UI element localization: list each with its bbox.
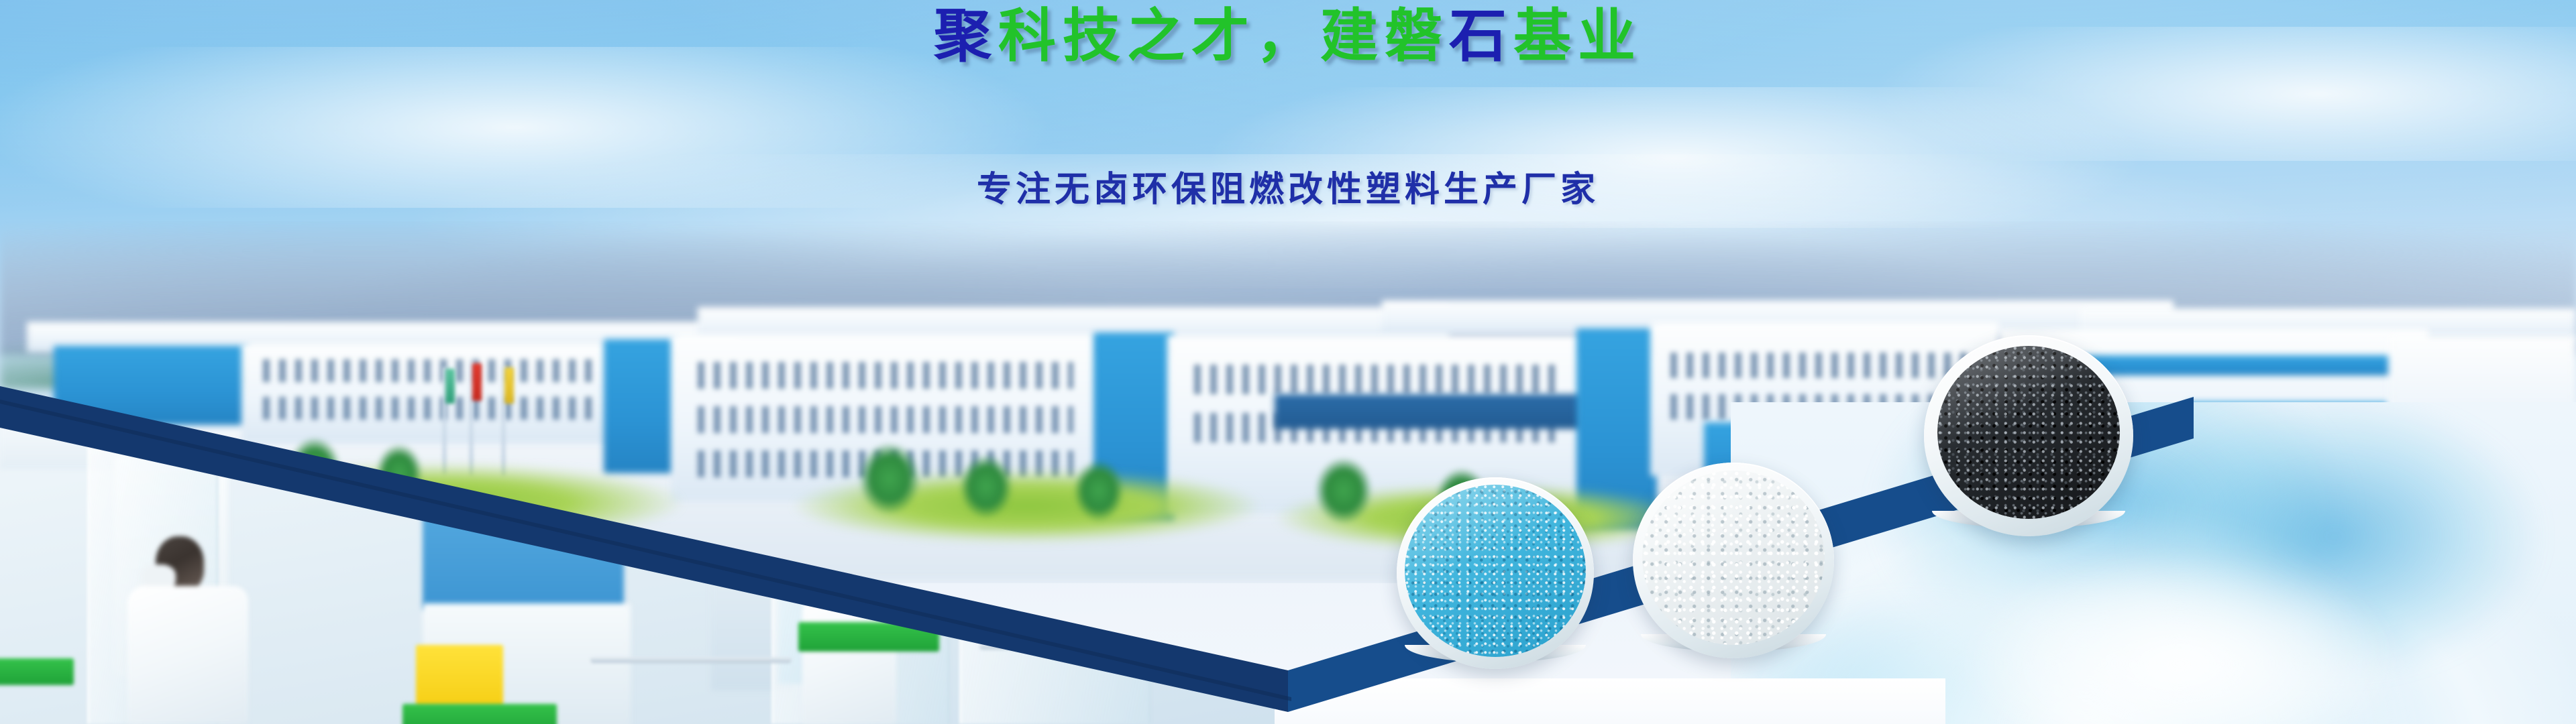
dish-contents — [1937, 346, 2120, 519]
tree — [1315, 457, 1373, 524]
safety-sign — [798, 622, 939, 652]
dish-contents — [1642, 471, 1825, 645]
white-pellets — [1642, 471, 1825, 645]
black-pellet-dish — [1924, 335, 2133, 536]
white-pellet-dish — [1633, 463, 1834, 658]
lab-coat — [802, 595, 896, 724]
safety-sign — [0, 658, 74, 685]
building-windows — [1194, 365, 1556, 394]
factory-building — [241, 343, 617, 444]
black-pellets — [1937, 346, 2120, 519]
banner-stage: 聚科技之才，建磐石基业 专注无卤环保阻燃改性塑料生产厂家 — [0, 0, 2576, 724]
flag — [445, 369, 455, 404]
subtitle: 专注无卤环保阻燃改性塑料生产厂家 — [0, 173, 2576, 208]
factory-building — [604, 339, 678, 473]
blue-pellet-dish — [1397, 477, 1594, 669]
handrail — [590, 657, 792, 663]
warning-sign — [416, 645, 503, 707]
headline-seg-3: 建磐 — [1320, 4, 1449, 68]
factory-building — [54, 346, 248, 425]
headline-seg-5: 基业 — [1513, 4, 1642, 68]
lab-worker — [121, 536, 268, 724]
tree — [1073, 460, 1124, 522]
building-windows — [263, 397, 598, 420]
building-windows — [263, 359, 598, 382]
building-windows — [698, 406, 1073, 433]
tree — [859, 442, 920, 515]
building-windows — [698, 362, 1073, 389]
white-foreground-sheet — [1275, 678, 1945, 724]
tree — [959, 455, 1013, 519]
blue-pellets — [1405, 485, 1586, 657]
headline-comma: ， — [1256, 4, 1320, 68]
dish-contents — [1405, 485, 1586, 657]
safety-sign — [402, 704, 557, 724]
flag — [472, 363, 482, 401]
lab-coat — [127, 586, 248, 724]
earth-globe-photo — [1731, 402, 2576, 724]
headline-seg-2: 科技之才 — [998, 4, 1256, 68]
headline-seg-1: 聚 — [934, 4, 998, 68]
building-windows — [1670, 353, 1979, 378]
headline: 聚科技之才，建磐石基业 — [0, 5, 2576, 68]
building-canopy — [1275, 394, 1583, 429]
headline-seg-4: 石 — [1449, 4, 1513, 68]
flag — [504, 367, 514, 404]
